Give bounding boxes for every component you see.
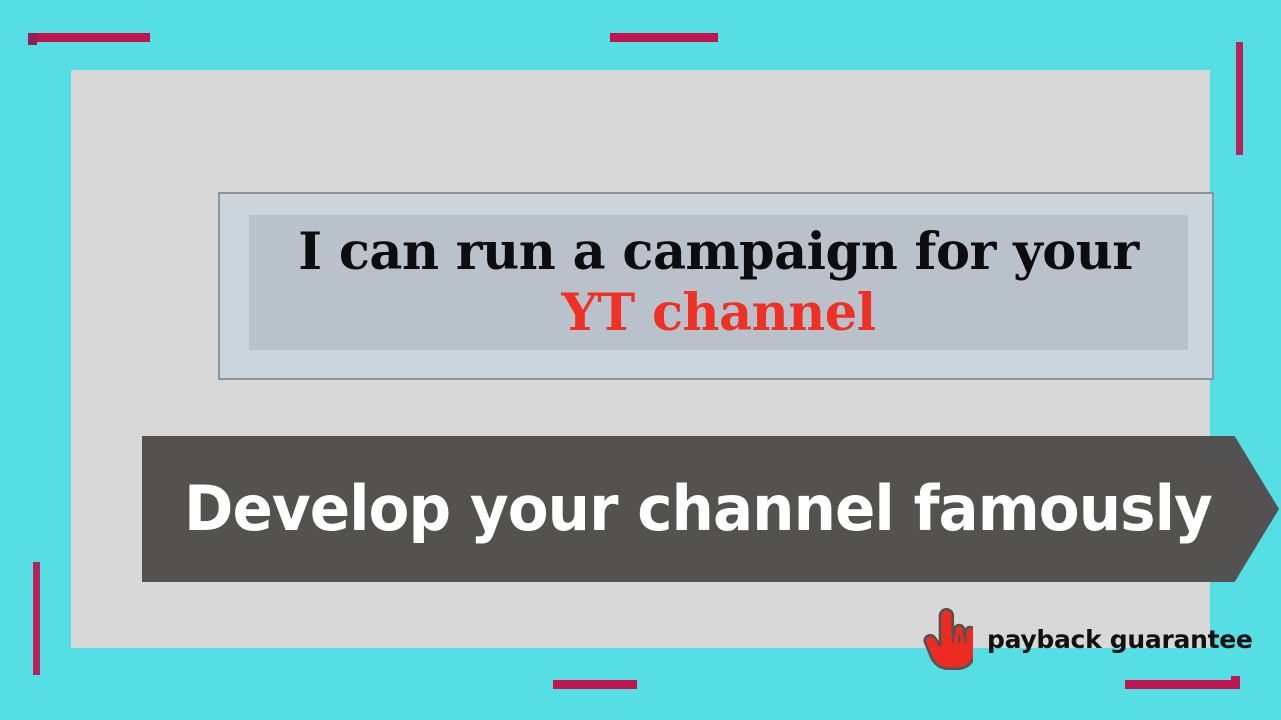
arrow-banner: Develop your channel famously: [142, 436, 1279, 582]
decoration-mark-bottom-right: [1125, 680, 1240, 689]
main-panel: I can run a campaign for your YT channel…: [71, 70, 1210, 648]
pointing-hand-cursor-icon: [923, 608, 973, 670]
payback-guarantee-label: payback guarantee: [987, 625, 1253, 654]
decoration-mark-bottom-center: [553, 680, 637, 689]
headline-line-2: YT channel: [561, 283, 875, 343]
decoration-mark-bottom-right-stub: [1231, 676, 1240, 689]
decoration-mark-top-left: [28, 33, 150, 42]
decoration-mark-top-left-stub: [28, 33, 37, 45]
headline: I can run a campaign for your YT channel: [249, 213, 1188, 352]
decoration-mark-left: [33, 562, 40, 675]
headline-line-1: I can run a campaign for your: [298, 222, 1138, 282]
decoration-mark-top-center: [610, 33, 718, 42]
decoration-mark-right: [1236, 42, 1243, 155]
poster-canvas: I can run a campaign for your YT channel…: [0, 0, 1281, 720]
arrow-banner-text: Develop your channel famously: [184, 478, 1212, 540]
payback-guarantee: payback guarantee: [923, 608, 1253, 670]
